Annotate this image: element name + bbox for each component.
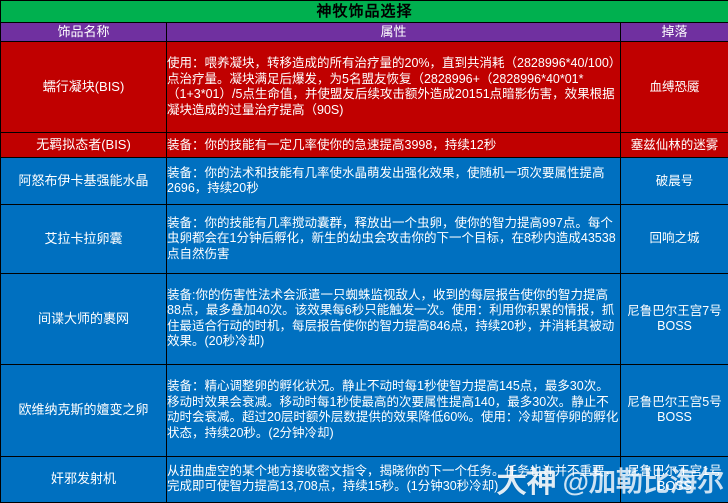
column-header-name[interactable]: 饰品名称 <box>1 23 167 42</box>
trinket-attribute: 装备：你的法术和技能有几率使水晶萌发出强化效果，使随机一项次要属性提高2696，… <box>167 158 621 204</box>
table-header-row: 饰品名称 属性 掉落 <box>1 23 728 42</box>
trinket-attribute: 装备：你的技能有几率搅动囊群，释放出一个虫卵，使你的智力提高997点。每个虫卵都… <box>167 204 621 273</box>
column-header-drop[interactable]: 掉落 <box>621 23 728 42</box>
trinket-drop: 血缚恐魇 <box>621 42 728 133</box>
table-title-row: 神牧饰品选择 <box>1 1 728 23</box>
table-row: 间谍大师的裹网 装备:你的伤害性法术会派遣一只蜘蛛监视敌人，收到的每层报告使你的… <box>1 273 728 364</box>
trinket-name: 无羁拟态者(BIS) <box>1 133 167 158</box>
trinket-drop: 破晨号 <box>621 158 728 204</box>
trinket-name: 阿怒布伊卡基强能水晶 <box>1 158 167 204</box>
trinket-name: 蠕行凝块(BIS) <box>1 42 167 133</box>
trinket-drop: 回响之城 <box>621 204 728 273</box>
trinket-name: 间谍大师的裹网 <box>1 273 167 364</box>
table-row: 蠕行凝块(BIS) 使用：喂养凝块，转移造成的所有治疗量的20%，直到共消耗（2… <box>1 42 728 133</box>
column-header-attribute[interactable]: 属性 <box>167 23 621 42</box>
table-row: 奸邪发射机 从扭曲虚空的某个地方接收密文指令，揭晓你的下一个任务。任务也许并不重… <box>1 456 728 502</box>
trinket-attribute: 装备：精心调整卵的孵化状况。静止不动时每1秒使智力提高145点，最多30次。移动… <box>167 365 621 456</box>
trinket-drop: 塞兹仙林的迷雾 <box>621 133 728 158</box>
trinket-drop: 尼鲁巴尔王宫7号BOSS <box>621 273 728 364</box>
table-row: 艾拉卡拉卵囊 装备：你的技能有几率搅动囊群，释放出一个虫卵，使你的智力提高997… <box>1 204 728 273</box>
table-row: 阿怒布伊卡基强能水晶 装备：你的法术和技能有几率使水晶萌发出强化效果，使随机一项… <box>1 158 728 204</box>
trinket-name: 欧维纳克斯的嬗变之卵 <box>1 365 167 456</box>
trinket-name: 奸邪发射机 <box>1 456 167 502</box>
trinket-selection-table: 神牧饰品选择 饰品名称 属性 掉落 蠕行凝块(BIS) 使用：喂养凝块，转移造成… <box>0 0 728 503</box>
trinket-attribute: 装备：你的技能有一定几率使你的急速提高3998，持续12秒 <box>167 133 621 158</box>
trinket-drop: 尼鲁巴尔王宫1号BOSS <box>621 456 728 502</box>
table-row: 欧维纳克斯的嬗变之卵 装备：精心调整卵的孵化状况。静止不动时每1秒使智力提高14… <box>1 365 728 456</box>
trinket-drop: 尼鲁巴尔王宫5号BOSS <box>621 365 728 456</box>
table-row: 无羁拟态者(BIS) 装备：你的技能有一定几率使你的急速提高3998，持续12秒… <box>1 133 728 158</box>
trinket-attribute: 从扭曲虚空的某个地方接收密文指令，揭晓你的下一个任务。任务也许并不重要，完成即可… <box>167 456 621 502</box>
trinket-attribute: 使用：喂养凝块，转移造成的所有治疗量的20%，直到共消耗（2828996*40/… <box>167 42 621 133</box>
trinket-name: 艾拉卡拉卵囊 <box>1 204 167 273</box>
page-title: 神牧饰品选择 <box>1 1 728 23</box>
trinket-attribute: 装备:你的伤害性法术会派遣一只蜘蛛监视敌人，收到的每层报告使你的智力提高88点，… <box>167 273 621 364</box>
